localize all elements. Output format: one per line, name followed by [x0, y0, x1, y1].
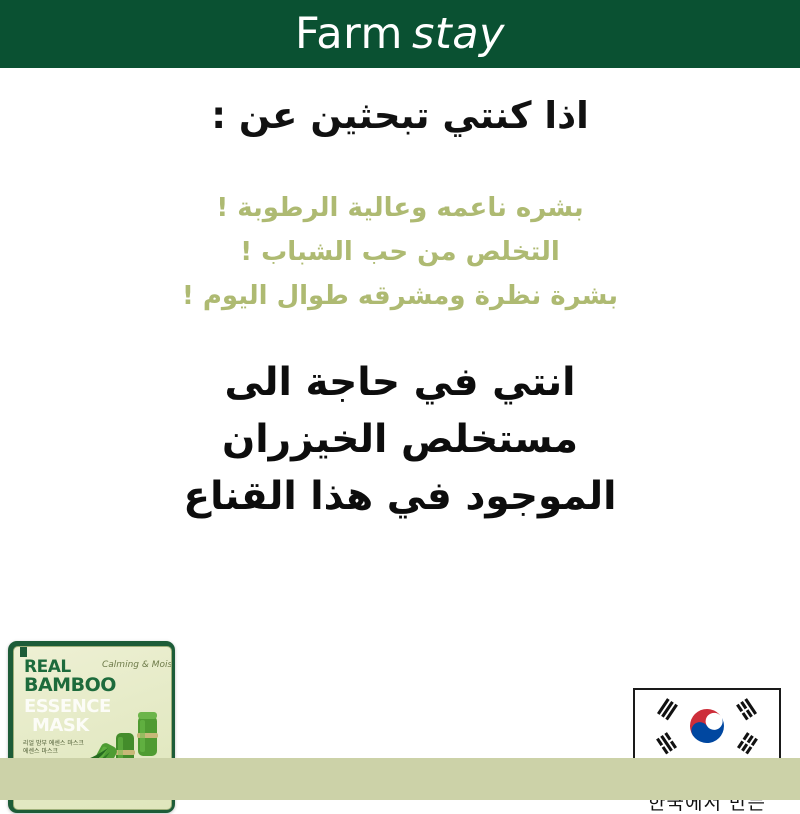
product-korean-line2: 에센스 마스크: [23, 748, 84, 756]
product-title-bamboo: BAMBOO: [24, 676, 116, 695]
callout-item: انتي في حاجة الى: [0, 354, 800, 411]
benefit-item: بشرة نظرة ومشرقه طوال اليوم !: [0, 274, 800, 318]
brand-header-bar: Farmstay: [0, 0, 800, 68]
product-korean-line1: 리얼 밤부 에센스 마스크: [23, 740, 84, 748]
taegeukgi-svg: [635, 690, 779, 762]
product-korean-text: 리얼 밤부 에센스 마스크 에센스 마스크: [23, 740, 84, 756]
benefit-item: بشره ناعمه وعالية الرطوبة !: [0, 186, 800, 230]
callout-block: انتي في حاجة الى مستخلص الخيزران الموجود…: [0, 354, 800, 525]
brand-logo-farm: Farm: [295, 9, 403, 59]
product-subtitle-mask: MASK: [32, 717, 89, 735]
page-headline: اذا كنتي تبحثين عن :: [0, 94, 800, 137]
product-script-tagline: Calming & Moisture: [102, 660, 172, 670]
pouch-notch: [20, 646, 27, 657]
south-korea-flag-icon: [633, 688, 781, 764]
footer-accent-bar: [0, 758, 800, 800]
benefit-item: التخلص من حب الشباب !: [0, 230, 800, 274]
callout-item: مستخلص الخيزران: [0, 411, 800, 468]
brand-logo-stay: stay: [412, 9, 505, 59]
callout-item: الموجود في هذا القناع: [0, 468, 800, 525]
main-content: اذا كنتي تبحثين عن : بشره ناعمه وعالية ا…: [0, 68, 800, 758]
brand-logo: Farmstay: [295, 9, 505, 59]
product-subtitle-essence: ESSENCE: [24, 698, 111, 716]
benefits-list: بشره ناعمه وعالية الرطوبة ! التخلص من حب…: [0, 186, 800, 318]
